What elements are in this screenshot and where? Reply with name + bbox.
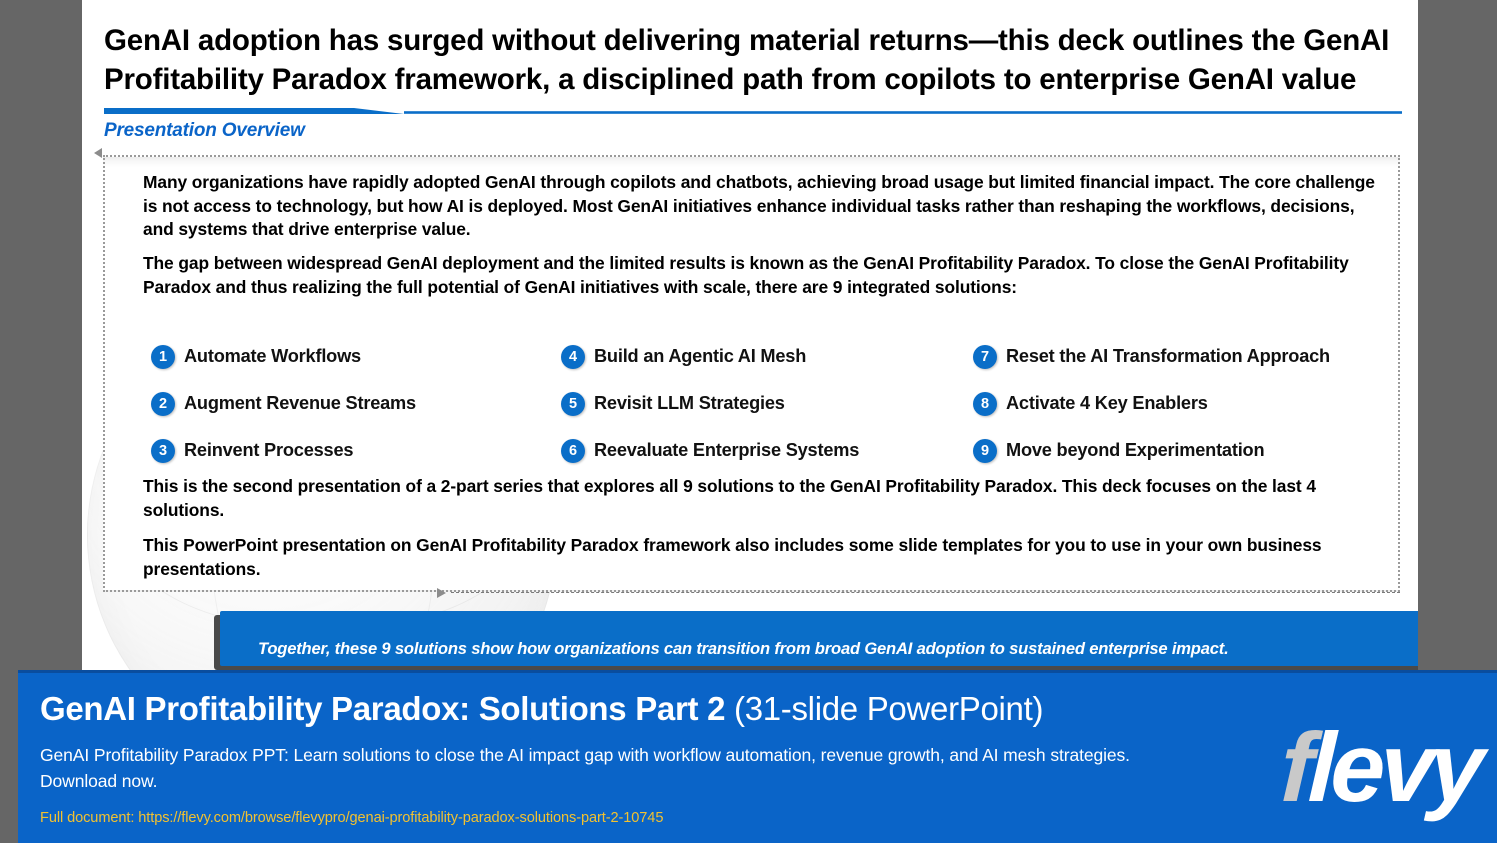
paragraph-1: Many organizations have rapidly adopted … (143, 171, 1383, 242)
flevy-logo[interactable]: flevy (1279, 718, 1481, 814)
document-title-meta: (31-slide PowerPoint) (734, 690, 1043, 727)
solution-label: Reinvent Processes (184, 440, 353, 461)
solution-label: Move beyond Experimentation (1006, 440, 1264, 461)
slide-title: GenAI adoption has surged without delive… (104, 22, 1404, 100)
dashed-connector (437, 588, 1400, 598)
document-title: GenAI Profitability Paradox: Solutions P… (40, 690, 1043, 728)
flevy-logo-f: f (1279, 718, 1310, 816)
solution-number-badge: 6 (561, 439, 585, 463)
callout-text: Together, these 9 solutions show how org… (258, 639, 1418, 659)
solution-label: Automate Workflows (184, 346, 361, 367)
document-description: GenAI Profitability Paradox PPT: Learn s… (40, 742, 1140, 795)
solution-item[interactable]: 9 Move beyond Experimentation (973, 427, 1393, 474)
solution-number-badge: 2 (151, 392, 175, 416)
solution-item[interactable]: 5 Revisit LLM Strategies (561, 380, 966, 427)
solution-item[interactable]: 8 Activate 4 Key Enablers (973, 380, 1393, 427)
solution-item[interactable]: 3 Reinvent Processes (151, 427, 561, 474)
solution-number-badge: 5 (561, 392, 585, 416)
solution-number-badge: 1 (151, 345, 175, 369)
solution-item[interactable]: 4 Build an Agentic AI Mesh (561, 333, 966, 380)
solution-label: Reset the AI Transformation Approach (1006, 346, 1330, 367)
solution-label: Revisit LLM Strategies (594, 393, 785, 414)
divider-shape (104, 108, 1402, 118)
screenshot-root: GenAI adoption has surged without delive… (0, 0, 1497, 843)
solutions-column-2: 4 Build an Agentic AI Mesh 5 Revisit LLM… (561, 333, 966, 474)
title-divider (104, 105, 1402, 115)
solution-label: Build an Agentic AI Mesh (594, 346, 806, 367)
solution-number-badge: 7 (973, 345, 997, 369)
title-container: GenAI adoption has surged without delive… (104, 22, 1404, 100)
content-box-left-handle-icon (94, 148, 102, 158)
solution-number-badge: 9 (973, 439, 997, 463)
footer-top-rule (18, 670, 1497, 673)
solutions-column-3: 7 Reset the AI Transformation Approach 8… (973, 333, 1393, 474)
slide-canvas: GenAI adoption has surged without delive… (82, 0, 1418, 670)
flevy-footer-banner: GenAI Profitability Paradox: Solutions P… (18, 670, 1497, 843)
solution-item[interactable]: 7 Reset the AI Transformation Approach (973, 333, 1393, 380)
solution-label: Reevaluate Enterprise Systems (594, 440, 859, 461)
content-box: Many organizations have rapidly adopted … (103, 155, 1400, 592)
solution-number-badge: 3 (151, 439, 175, 463)
solution-number-badge: 4 (561, 345, 585, 369)
solution-item[interactable]: 6 Reevaluate Enterprise Systems (561, 427, 966, 474)
section-label: Presentation Overview (104, 120, 305, 142)
paragraph-2: The gap between widespread GenAI deploym… (143, 252, 1388, 299)
solution-item[interactable]: 1 Automate Workflows (151, 333, 561, 380)
document-url[interactable]: Full document: https://flevy.com/browse/… (40, 810, 663, 826)
paragraph-4: This PowerPoint presentation on GenAI Pr… (143, 534, 1388, 581)
solution-number-badge: 8 (973, 392, 997, 416)
solution-label: Activate 4 Key Enablers (1006, 393, 1208, 414)
paragraph-3: This is the second presentation of a 2-p… (143, 475, 1373, 522)
document-title-main: GenAI Profitability Paradox: Solutions P… (40, 690, 725, 727)
dashed-line (451, 592, 1400, 593)
flevy-logo-levy: levy (1307, 718, 1481, 816)
solution-label: Augment Revenue Streams (184, 393, 416, 414)
callout-banner: Together, these 9 solutions show how org… (220, 611, 1418, 666)
solutions-column-1: 1 Automate Workflows 2 Augment Revenue S… (151, 333, 561, 474)
arrow-right-icon (437, 588, 446, 598)
solutions-grid: 1 Automate Workflows 2 Augment Revenue S… (143, 333, 1393, 468)
solution-item[interactable]: 2 Augment Revenue Streams (151, 380, 561, 427)
